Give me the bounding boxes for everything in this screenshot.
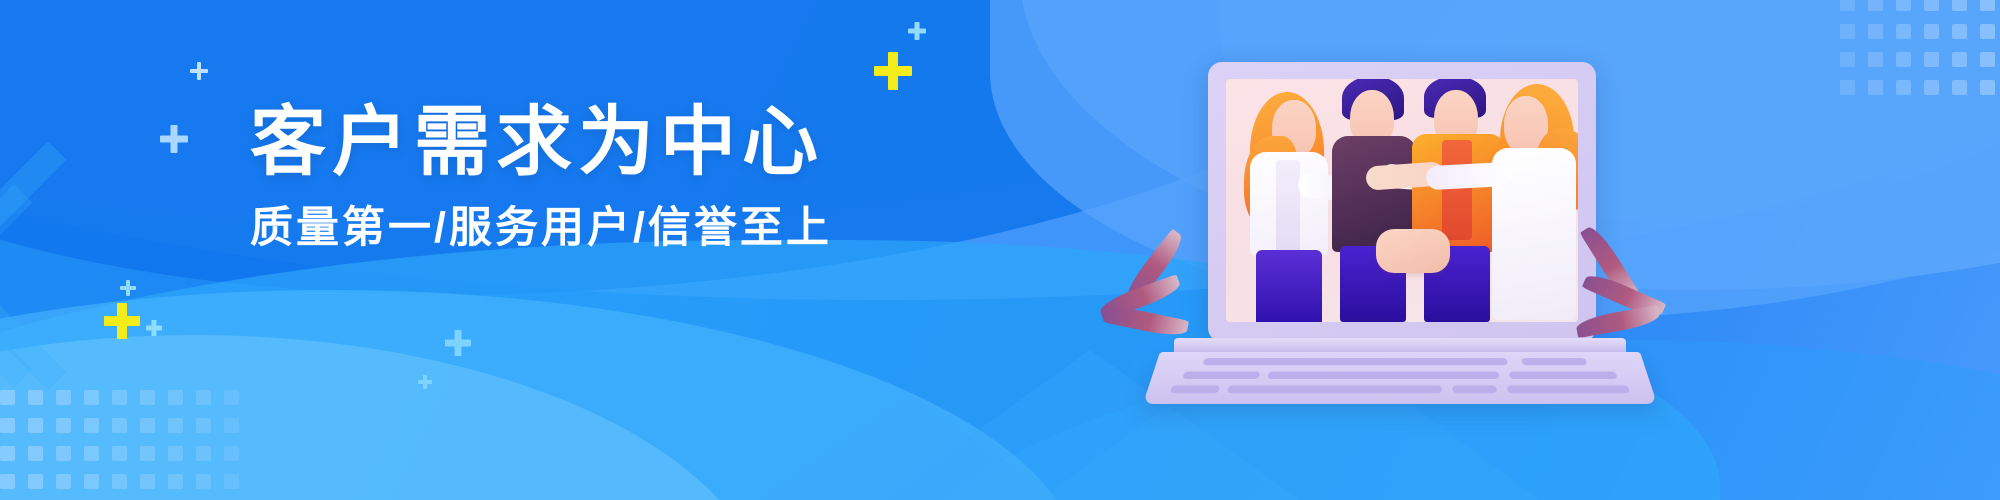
laptop-keyboard [1143, 352, 1657, 404]
laptop-screen-shell [1208, 62, 1596, 342]
grid-dot [140, 446, 155, 461]
person-4-woman-right [1478, 79, 1578, 322]
grid-dot [28, 474, 43, 489]
keyboard-key [1170, 386, 1220, 394]
banner-subline: 质量第一/服务用户/信誉至上 [250, 207, 870, 250]
grid-dot [140, 390, 155, 405]
plus-cyan-small-bottom-icon [146, 320, 162, 336]
plus-cyan-bottom-center-icon [445, 330, 471, 356]
person-1-legs [1256, 250, 1322, 322]
grid-dot [84, 446, 99, 461]
grid-dot [112, 418, 127, 433]
plus-cyan-bottom-center-sm-icon [418, 375, 432, 389]
grid-dot [0, 418, 15, 433]
background-wave-bottom-pale [0, 335, 770, 500]
grid-dot [0, 390, 15, 405]
keyboard-key [1267, 372, 1499, 379]
banner-copy: 客户需求为中心 质量第一/服务用户/信誉至上 [250, 105, 870, 250]
grid-dot [56, 474, 71, 489]
keyboard-key [1182, 372, 1260, 379]
grid-dot [140, 474, 155, 489]
grid-dot [112, 390, 127, 405]
grid-dot [224, 418, 239, 433]
grid-dot [84, 418, 99, 433]
plus-white-upper-left-icon [190, 62, 208, 80]
grid-dot [0, 446, 15, 461]
grid-dot [196, 418, 211, 433]
laptop-screen [1226, 79, 1578, 322]
grid-dot [140, 418, 155, 433]
keyboard-key [1452, 386, 1497, 394]
plus-white-left-icon [160, 125, 188, 153]
plus-cyan-mid-left-icon [120, 280, 136, 296]
banner-headline: 客户需求为中心 [250, 105, 870, 181]
keyboard-key [1507, 386, 1631, 394]
keyboard-key [1509, 372, 1618, 379]
grid-dot [112, 446, 127, 461]
grid-dot [196, 446, 211, 461]
grid-dot [168, 390, 183, 405]
keyboard-key [1521, 358, 1587, 365]
person-1-shirt [1276, 160, 1300, 256]
grid-dot [168, 446, 183, 461]
grid-dot [84, 390, 99, 405]
grid-dot [224, 474, 239, 489]
grid-dot [56, 390, 71, 405]
grid-dot [196, 390, 211, 405]
grid-dot [84, 474, 99, 489]
grid-dot [112, 474, 127, 489]
grid-dot [56, 418, 71, 433]
grid-dot [168, 474, 183, 489]
grid-dot [168, 418, 183, 433]
grid-dot [196, 474, 211, 489]
grid-dot [224, 390, 239, 405]
grid-dot [28, 418, 43, 433]
plus-cyan-small-top-icon [908, 22, 926, 40]
person-4-arm [1425, 162, 1512, 190]
keyboard-key [1227, 386, 1443, 394]
joined-hands [1376, 229, 1450, 273]
plus-yellow-large-bottom-icon [104, 303, 140, 339]
person-3-inner-shirt [1442, 140, 1472, 240]
grid-dot [56, 446, 71, 461]
laptop-illustration [1190, 62, 1610, 362]
grid-dot [0, 474, 15, 489]
promotional-banner: 客户需求为中心 质量第一/服务用户/信誉至上 [0, 0, 2000, 500]
grid-dot [224, 446, 239, 461]
plus-yellow-large-top-icon [874, 52, 912, 90]
grid-dot [28, 446, 43, 461]
keyboard-key [1202, 358, 1507, 365]
grid-dot [28, 390, 43, 405]
